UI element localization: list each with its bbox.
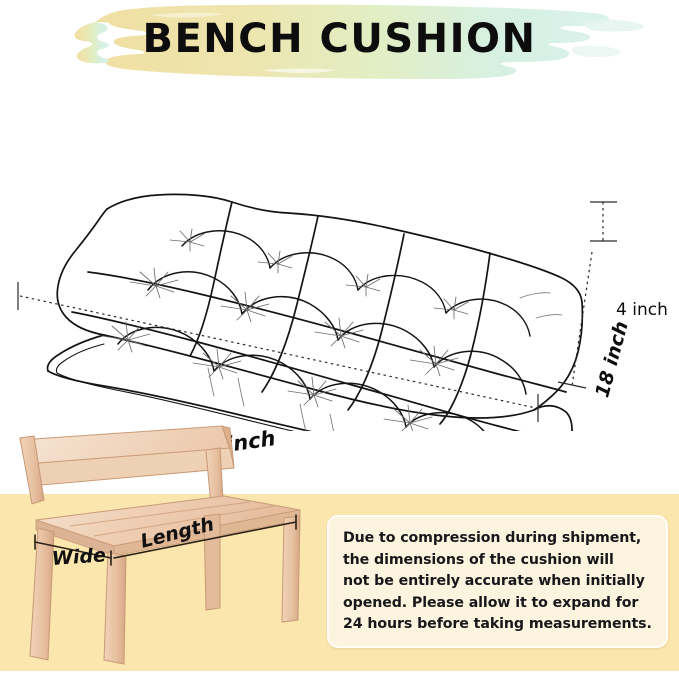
page-title: BENCH CUSHION — [0, 16, 679, 62]
bench-drawing — [8, 420, 338, 671]
dim-line-depth — [572, 252, 592, 386]
disclaimer-line-4: opened. Please allow it to expand for — [343, 593, 654, 615]
bench-label-wide: Wide — [51, 544, 106, 570]
title-banner: BENCH CUSHION — [0, 0, 679, 92]
cushion-line-art — [0, 86, 679, 431]
disclaimer-line-2: the dimensions of the cushion will — [343, 550, 654, 572]
cushion-illustration: 45 inch 18 inch 4 inch — [0, 86, 679, 431]
disclaimer-line-3: not be entirely accurate when initially — [343, 571, 654, 593]
dimension-label-thickness: 4 inch — [616, 300, 668, 320]
disclaimer-line-5: 24 hours before taking measurements. — [343, 614, 654, 636]
disclaimer-line-1: Due to compression during shipment, — [343, 528, 654, 550]
bench-illustration — [8, 420, 338, 671]
infographic-canvas: BENCH CUSHION — [0, 0, 679, 671]
disclaimer-box: Due to compression during shipment, the … — [327, 515, 668, 648]
